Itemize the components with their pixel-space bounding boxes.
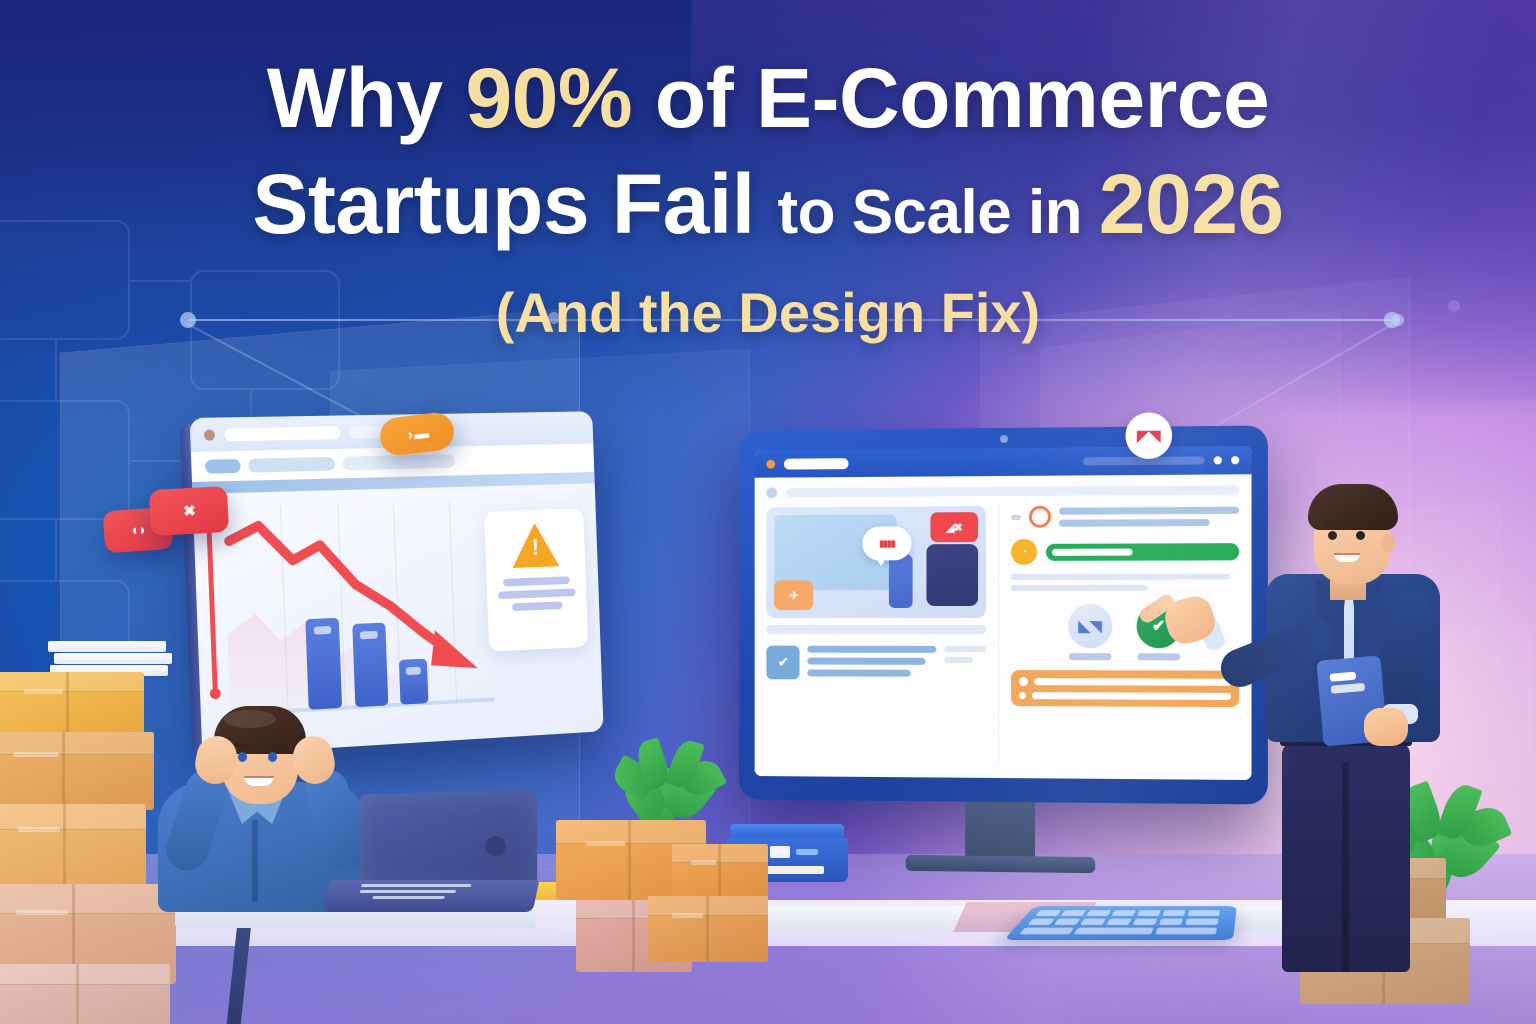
metric-text: [1059, 506, 1239, 526]
consultant-hand-holding: [1364, 708, 1408, 746]
list-item-meta: [944, 646, 986, 663]
rewards-coin-icon: ◔: [1011, 539, 1037, 565]
conversion-progress-row: ◔: [1011, 538, 1240, 565]
laptop[interactable]: [326, 792, 536, 912]
bookmark-badge[interactable]: ◤◥: [1125, 412, 1172, 459]
tablet-screen-line: [1331, 683, 1366, 694]
title-line-1-post: of E-Commerce: [632, 51, 1269, 145]
toolbar-field-secondary[interactable]: [342, 454, 455, 470]
cardboard-box: [0, 964, 170, 1024]
call-to-action-card[interactable]: [1011, 670, 1240, 707]
shipping-icon: ✈: [790, 589, 798, 602]
analytics-badge-circle: ◣◥: [1068, 604, 1112, 648]
founder-shirt-placket: [252, 820, 258, 902]
address-bar[interactable]: [224, 426, 340, 441]
cardboard-box: [648, 896, 768, 962]
cta-bullet-icon: [1019, 677, 1028, 686]
discount-icon: ◢✖: [946, 521, 962, 534]
warning-triangle-icon: [511, 522, 559, 568]
monitor-stand-neck: [965, 802, 1035, 861]
checkmark-icon: ✔: [778, 655, 788, 671]
product-variant-card-secondary[interactable]: [889, 554, 913, 608]
dashboard-header-row: [766, 484, 1239, 498]
bounce-rate-icon: ✖: [183, 502, 196, 521]
conversion-progress-bar[interactable]: [1046, 543, 1239, 561]
cardboard-box: [0, 804, 146, 892]
cta-row: [1019, 692, 1231, 700]
sale-tag-icon: ▮▮▮▮: [879, 538, 895, 549]
analytics-icon: ◣◥: [1078, 617, 1101, 635]
title-line-2-mid: to Scale in: [777, 178, 1098, 247]
toolbar-tab[interactable]: [205, 459, 241, 474]
cardboard-box: [0, 732, 154, 810]
analytics-badge-label: [1069, 653, 1111, 660]
shipping-badge[interactable]: ✈: [774, 580, 813, 610]
dashboard-titlebar: [755, 446, 1252, 478]
consultant-eyebrow: [1353, 523, 1370, 527]
alert-text-line: [498, 588, 576, 599]
laptop-lid: [360, 789, 537, 890]
discount-badge[interactable]: ◢✖: [930, 512, 978, 542]
warning-alert-card[interactable]: [484, 508, 588, 651]
design-consultant: [1224, 452, 1484, 972]
monitor-stand-base: [906, 855, 1096, 873]
bullet-icon: [1011, 514, 1021, 519]
poster-subtitle: (And the Design Fix): [0, 280, 1536, 345]
product-variant-card[interactable]: [926, 544, 978, 606]
cart-drop-icon: ◖◗: [129, 521, 146, 539]
laptop-keyboard[interactable]: [359, 884, 482, 898]
alert-text-line: [512, 601, 562, 611]
sale-tooltip: ▮▮▮▮: [862, 526, 911, 560]
bounce-rate-badge[interactable]: ✖: [149, 486, 229, 536]
consultant-eyebrow: [1324, 523, 1341, 527]
cta-bullet-icon: [1019, 692, 1026, 699]
tablet-screen-line: [1330, 672, 1357, 682]
cardboard-box: [0, 672, 144, 738]
consultant-eye: [1356, 531, 1365, 540]
founder-eye: [238, 752, 247, 762]
toolbar-field[interactable]: [248, 457, 335, 473]
list-item-text: [807, 646, 936, 677]
consultant-leg-split: [1342, 762, 1349, 972]
title-line-1: Why 90% of E-Commerce: [0, 56, 1536, 140]
monitor-camera-icon: [1000, 435, 1008, 443]
product-panel: ◢✖ ✈ ▮▮▮▮: [766, 506, 985, 764]
coin-glyph-icon: ◔: [1021, 546, 1026, 557]
title-year-2026: 2026: [1099, 157, 1284, 251]
cta-row: [1019, 677, 1231, 687]
consultant-eye: [1328, 531, 1337, 540]
product-caption-bar: [766, 625, 985, 634]
consultant-ear: [1382, 534, 1395, 552]
dashboard-address-bar[interactable]: [784, 458, 849, 469]
desktop-keyboard[interactable]: [1004, 906, 1237, 940]
checkout-badge-label: [1137, 653, 1180, 660]
alert-text-line: [503, 576, 570, 586]
printer-indicator: [796, 849, 818, 855]
metric-subtext: [1011, 574, 1240, 591]
title-line-2-pre: Startups Fail: [252, 157, 777, 251]
window-close-icon[interactable]: [204, 429, 215, 440]
founder-eye: [268, 752, 277, 762]
laptop-logo-icon: [485, 836, 505, 857]
bookmark-icon: ◤◥: [1137, 427, 1160, 445]
paper-stack: [50, 642, 170, 676]
title-stat-90: 90%: [465, 51, 632, 145]
address-bar-suffix: [350, 425, 383, 438]
product-preview-card[interactable]: ◢✖ ✈ ▮▮▮▮: [766, 506, 985, 618]
printer-display: [770, 846, 790, 858]
dashboard-avatar: [766, 487, 777, 498]
notification-ring-icon: [1029, 506, 1051, 528]
title-line-1-pre: Why: [267, 51, 466, 145]
alert-pill-icon: ◗▬: [405, 424, 429, 444]
title-line-2: Startups Fail to Scale in 2026: [0, 162, 1536, 246]
window-status-icon[interactable]: [766, 459, 775, 468]
poster-title-block: Why 90% of E-Commerce Startups Fail to S…: [0, 56, 1536, 345]
list-item-thumbnail: ✔: [766, 646, 799, 680]
dashboard-header-bar: [787, 485, 1239, 497]
analytics-badge[interactable]: ◣◥: [1068, 604, 1112, 660]
declining-trend-line: [223, 500, 485, 686]
metric-row-top: [1011, 505, 1240, 528]
poster-canvas: Why 90% of E-Commerce Startups Fail to S…: [0, 0, 1536, 1024]
list-item[interactable]: ✔: [766, 646, 985, 680]
dashboard-menu-icon[interactable]: [1214, 456, 1222, 464]
